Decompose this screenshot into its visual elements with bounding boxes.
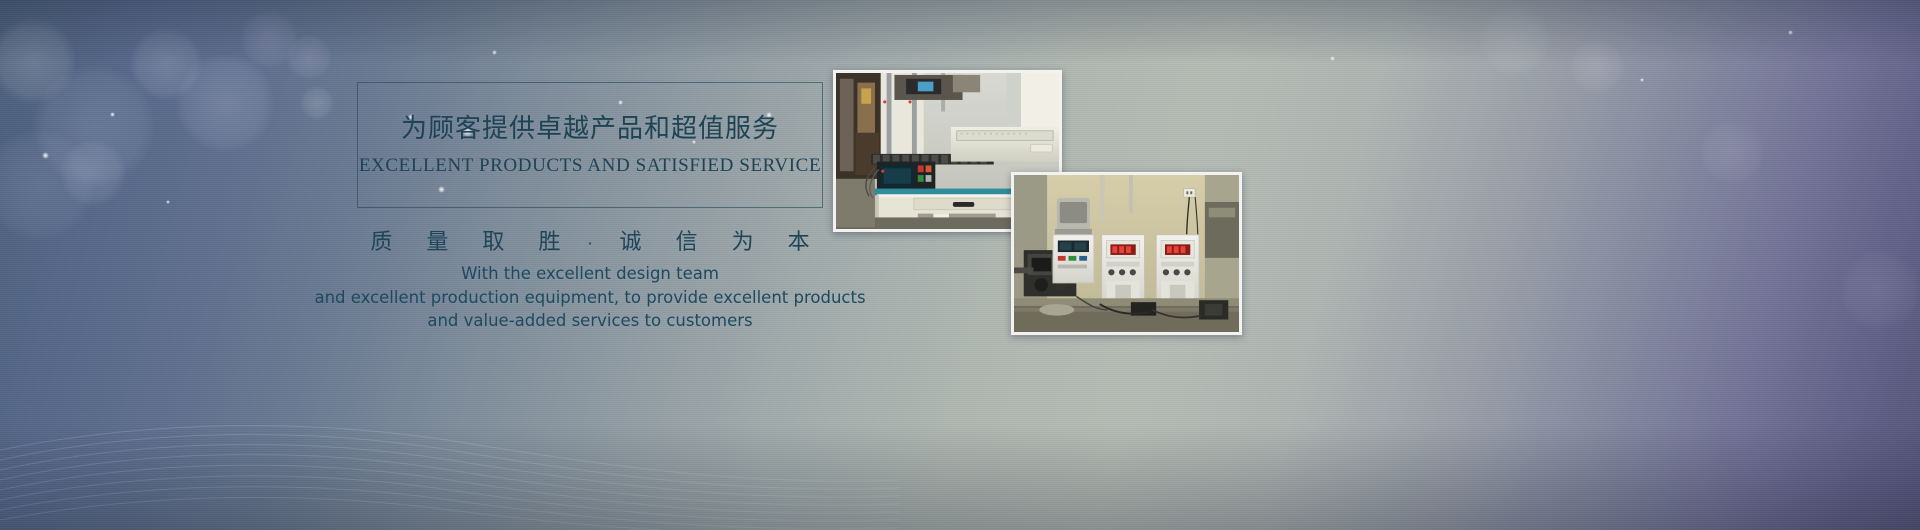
slogan-char: 为: [732, 224, 754, 256]
slogan-separator: ·: [587, 234, 592, 253]
bokeh-circle: [1570, 40, 1624, 94]
bokeh-circle: [286, 34, 332, 80]
sparkle: [42, 152, 49, 159]
decorative-wave-lines: [0, 320, 900, 530]
sparkle: [1640, 78, 1644, 82]
slogan-char: 信: [676, 224, 698, 256]
bokeh-circle: [240, 10, 298, 68]
sparkle: [492, 50, 497, 55]
slogan-char: 本: [788, 224, 810, 256]
sparkle: [166, 200, 170, 204]
slogan-chinese: 质量取胜·诚信为本: [340, 224, 840, 256]
slogan-char: 质: [370, 224, 392, 256]
bokeh-circle: [0, 130, 94, 240]
headline-frame: [357, 82, 823, 208]
sparkle: [1788, 30, 1793, 35]
description-paragraph: With the excellent design team and excel…: [300, 262, 880, 333]
bokeh-circle: [0, 18, 76, 104]
bokeh-circle: [1840, 250, 1920, 330]
testing-equipment-photo: [1011, 172, 1242, 335]
bokeh-circle: [60, 140, 126, 206]
bokeh-circle: [34, 66, 154, 186]
bokeh-circle: [130, 28, 202, 100]
slogan-char: 量: [426, 224, 448, 256]
headline-english: EXCELLENT PRODUCTS AND SATISFIED SERVICE: [357, 155, 823, 177]
slogan-char: 取: [482, 224, 504, 256]
description-line-3: and value-added services to customers: [300, 309, 880, 333]
bokeh-circle: [300, 86, 334, 120]
description-line-1: With the excellent design team: [300, 262, 880, 286]
sparkle: [1330, 56, 1335, 61]
slogan-char: 胜: [538, 224, 560, 256]
hero-banner: 为顾客提供卓越产品和超值服务 EXCELLENT PRODUCTS AND SA…: [0, 0, 1920, 530]
description-line-2: and excellent production equipment, to p…: [300, 286, 880, 310]
bokeh-circle: [1480, 6, 1550, 76]
headline-chinese: 为顾客提供卓越产品和超值服务: [357, 108, 823, 145]
slogan-char: 诚: [620, 224, 642, 256]
bokeh-circle: [1700, 120, 1764, 184]
bokeh-circle: [176, 54, 274, 152]
sparkle: [110, 112, 115, 117]
